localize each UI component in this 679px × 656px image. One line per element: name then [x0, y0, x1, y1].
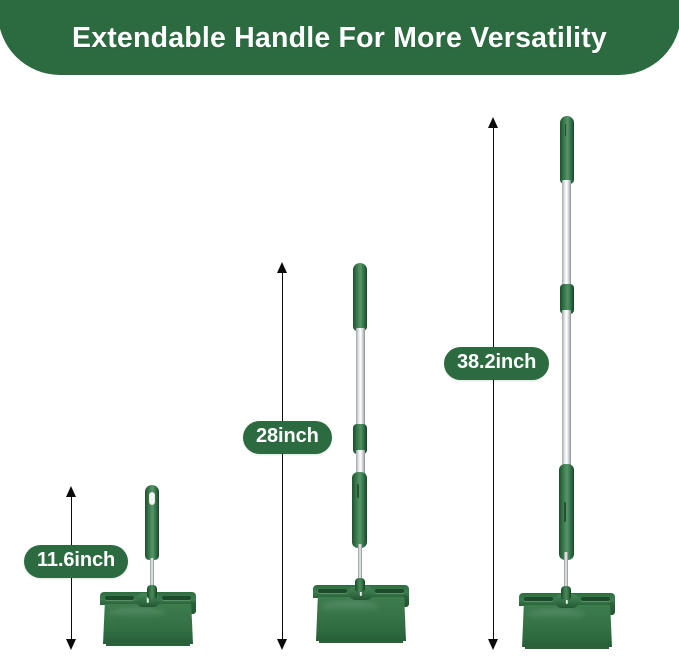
mop-head-slot-right: [581, 597, 610, 601]
mop-head-body: [316, 597, 406, 641]
head-pivot-large: [561, 586, 571, 600]
mop-head-large: [519, 593, 615, 651]
size-label-medium: 28inch: [243, 421, 332, 454]
head-pivot-medium: [355, 578, 365, 592]
mop-head-foot: [106, 642, 190, 646]
product-comparison-stage: 11.6inch: [0, 0, 679, 656]
handle-collar-2-large: [559, 464, 575, 560]
handle-tube-1-large: [562, 180, 571, 288]
mop-head-body: [522, 605, 612, 647]
size-label-small: 11.6inch: [24, 545, 128, 578]
mop-head-body: [103, 604, 193, 644]
dimension-arrow-large: [484, 117, 504, 650]
handle-grip-large: [560, 116, 574, 184]
head-pivot-small: [147, 585, 157, 599]
size-label-small-text: 11.6inch: [37, 549, 115, 572]
size-label-large: 38.2inch: [444, 347, 549, 380]
handle-seam-large-top: [565, 124, 567, 136]
mop-head-foot: [319, 639, 403, 643]
handle-tube-2-large: [562, 310, 571, 470]
mop-head-sheen: [108, 608, 166, 618]
arrow-shaft: [493, 123, 494, 642]
mop-head-foot: [525, 645, 609, 649]
mop-head-sheen: [527, 609, 585, 620]
arrow-head-down-icon: [488, 639, 498, 650]
mop-head-slot-left: [524, 597, 553, 601]
size-label-large-text: 38.2inch: [457, 351, 536, 374]
handle-seam-large-lower: [564, 502, 566, 522]
size-label-medium-text: 28inch: [256, 425, 319, 448]
mop-head-sheen: [321, 601, 379, 612]
